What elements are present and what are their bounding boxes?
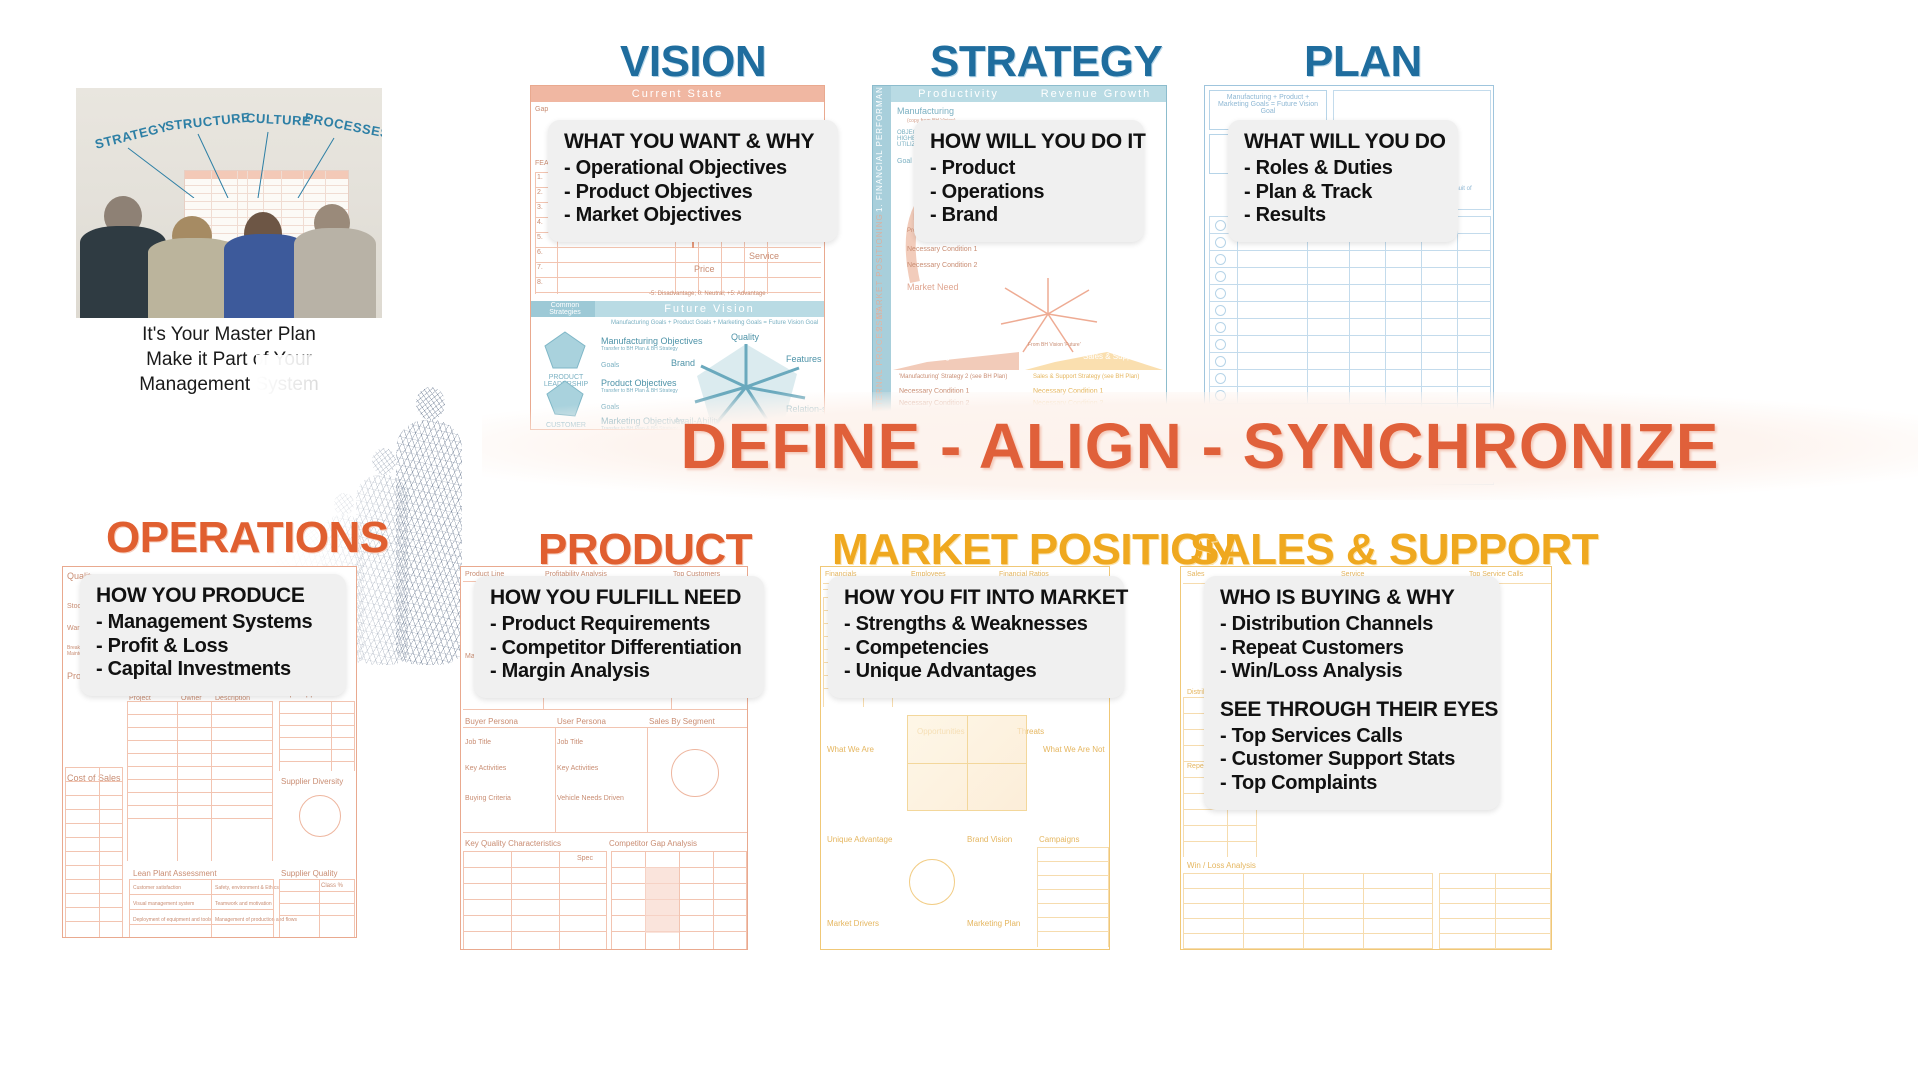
mp-label-unique-advantage: Unique Advantage (827, 835, 892, 844)
sales-support-card-item2-2: - Customer Support Stats (1220, 748, 1484, 772)
vision-row-7: 7. (537, 264, 543, 271)
strategy-band-revenue-growth: Revenue Growth (1026, 86, 1166, 102)
strategy-label-sales-support-band: Sales & Support (1083, 352, 1141, 361)
sales-support-card-item-2: - Repeat Customers (1220, 637, 1484, 661)
sales-support-card-item2-3: - Top Complaints (1220, 772, 1484, 796)
operations-callout-card: HOW YOU PRODUCE - Management Systems - P… (80, 574, 346, 696)
vision-label-goal-formula: Manufacturing Goals + Product Goals + Ma… (611, 320, 818, 326)
mp-label-brand-vision: Brand Vision (967, 835, 1012, 844)
strategy-label-nc-1: Necessary Condition 1 (907, 246, 977, 253)
vision-card-item-2: - Product Objectives (564, 181, 822, 205)
product-kqc-grid (463, 851, 607, 949)
panel-title-strategy: STRATEGY (930, 40, 1162, 84)
product-card-item-2: - Competitor Differentiation (490, 637, 748, 661)
sales-support-card-item2-1: - Top Services Calls (1220, 725, 1484, 749)
ops-label-lean-assessment: Lean Plant Assessment (133, 869, 217, 878)
market-position-card-item-2: - Competencies (844, 637, 1108, 661)
product-label-sales-by-segment: Sales By Segment (649, 717, 715, 726)
product-card-item-3: - Margin Analysis (490, 660, 748, 684)
ops-left-grid (65, 767, 123, 937)
vision-radar-brand: Brand (671, 358, 695, 368)
operations-card-heading: HOW YOU PRODUCE (96, 584, 330, 608)
plan-callout-card: WHAT WILL YOU DO - Roles & Duties - Plan… (1228, 120, 1458, 242)
sales-support-card-heading: WHO IS BUYING & WHY (1220, 586, 1484, 610)
vision-band-future-vision: Future Vision (595, 301, 824, 317)
vision-radar-quality: Quality (731, 332, 759, 342)
ops-projects-grid (127, 701, 273, 861)
operations-card-item-1: - Management Systems (96, 611, 330, 635)
ops-label-supplier-quality: Supplier Quality (281, 869, 337, 878)
strategy-label-ss-strategy: Sales & Support Strategy (see BH Plan) (1033, 374, 1139, 380)
product-label-competitor-gap: Competitor Gap Analysis (609, 839, 697, 848)
banner-text: DEFINE - ALIGN - SYNCHRONIZE (681, 409, 1720, 483)
banner-define-align-synchronize: DEFINE - ALIGN - SYNCHRONIZE (482, 392, 1918, 500)
vision-row-1: 1. (537, 174, 543, 181)
team-planning-photo: STRATEGY STRUCTURE CULTURE PROCESSES (76, 88, 382, 318)
plan-card-item-3: - Results (1244, 204, 1442, 228)
vision-label-gap: Gap (535, 106, 548, 113)
strategy-label-manufacturing: Manufacturing (897, 106, 954, 116)
mp-label-campaigns: Campaigns (1039, 835, 1079, 844)
ss-label-win-loss: Win / Loss Analysis (1187, 861, 1256, 870)
product-card-item-1: - Product Requirements (490, 613, 748, 637)
panel-title-operations: OPERATIONS (106, 516, 389, 560)
vision-legend: -5: Disadvantage; 0: Neutral; +5: Advant… (649, 291, 766, 297)
strategy-label-mfg-strategy-2: 'Manufacturing' Strategy 2 (see BH Plan) (899, 374, 1007, 380)
vision-row-4: 4. (537, 219, 543, 226)
vision-label-prod-objectives: Product Objectives (601, 378, 677, 388)
ops-label-supplier-diversity: Supplier Diversity (281, 777, 343, 786)
product-callout-card: HOW YOU FULFILL NEED - Product Requireme… (474, 576, 764, 698)
ss-winloss-grid (1183, 873, 1433, 949)
vision-card-item-3: - Market Objectives (564, 204, 822, 228)
plan-card-item-2: - Plan & Track (1244, 181, 1442, 205)
sales-support-card-item-1: - Distribution Channels (1220, 613, 1484, 637)
sales-support-card-heading-2: SEE THROUGH THEIR EYES (1220, 698, 1484, 722)
vision-label-service: Service (749, 251, 779, 261)
mp-label-what-we-are-not: What We Are Not (1043, 745, 1105, 754)
strategy-label-market-need: Market Need (907, 282, 959, 292)
product-label-key-quality: Key Quality Characteristics (465, 839, 561, 848)
product-card-heading: HOW YOU FULFILL NEED (490, 586, 748, 610)
sales-support-card-item-3: - Win/Loss Analysis (1220, 660, 1484, 684)
panel-title-vision: VISION (620, 40, 766, 84)
market-position-card-item-1: - Strengths & Weaknesses (844, 613, 1108, 637)
mp-label-market-drivers: Market Drivers (827, 919, 879, 928)
strategy-band-productivity: Productivity (891, 86, 1026, 102)
vision-row-3: 3. (537, 204, 543, 211)
mp-label-what-we-are: What We Are (827, 745, 874, 754)
vision-row-5: 5. (537, 234, 543, 241)
vision-transfer-note-1: Transfer to BH Plan & BH Strategy (601, 346, 678, 352)
photo-arc-labels: STRATEGY STRUCTURE CULTURE PROCESSES (76, 88, 382, 198)
strategy-label-nc-2: Necessary Condition 2 (907, 262, 977, 269)
strategy-label-mfg-band: Manufacturing (899, 352, 950, 361)
market-position-card-item-3: - Unique Advantages (844, 660, 1108, 684)
strategy-card-item-1: - Product (930, 157, 1128, 181)
vision-radar-features: Features (786, 354, 822, 364)
ops-supplier-quality-grid (279, 879, 355, 937)
vision-label-goals-1: Goals (601, 362, 619, 369)
plan-card-heading: WHAT WILL YOU DO (1244, 130, 1442, 154)
vision-label-common-strategies: Common Strategies (537, 302, 593, 316)
strategy-card-heading: HOW WILL YOU DO IT (930, 130, 1128, 154)
operations-card-item-2: - Profit & Loss (96, 635, 330, 659)
vision-row-6: 6. (537, 249, 543, 256)
product-label-user-persona: User Persona (557, 717, 606, 726)
caption-line-1: It's Your Master Plan (76, 322, 382, 347)
panel-title-plan: PLAN (1304, 40, 1422, 84)
vision-row-8: 8. (537, 279, 543, 286)
operations-card-item-3: - Capital Investments (96, 658, 330, 682)
ss-right-grid (1439, 873, 1551, 949)
strategy-rail-financial: 1. FINANCIAL PERFORMANCE (875, 92, 888, 212)
ss-label-sales: Sales (1187, 571, 1205, 578)
vision-callout-card: WHAT YOU WANT & WHY - Operational Object… (548, 120, 838, 242)
strategy-callout-card: HOW WILL YOU DO IT - Product - Operation… (914, 120, 1144, 242)
market-position-callout-card: HOW YOU FIT INTO MARKET - Strengths & We… (828, 576, 1124, 698)
product-gap-grid (611, 851, 747, 949)
vision-band-current-state: Current State (531, 86, 824, 102)
sales-support-callout-card: WHO IS BUYING & WHY - Distribution Chann… (1204, 576, 1500, 810)
market-position-card-heading: HOW YOU FIT INTO MARKET (844, 586, 1108, 610)
mp-right-grid (1037, 847, 1109, 947)
vision-card-heading: WHAT YOU WANT & WHY (564, 130, 822, 154)
vision-row-2: 2. (537, 189, 543, 196)
mp-label-marketing-plan: Marketing Plan (967, 919, 1020, 928)
plan-card-item-1: - Roles & Duties (1244, 157, 1442, 181)
ops-lean-grid (129, 879, 274, 937)
vision-card-item-1: - Operational Objectives (564, 157, 822, 181)
ops-suppliers-grid (279, 701, 355, 771)
strategy-card-item-2: - Operations (930, 181, 1128, 205)
strategy-card-item-3: - Brand (930, 204, 1128, 228)
product-label-buyer-persona: Buyer Persona (465, 717, 518, 726)
infographic-canvas: STRATEGY STRUCTURE CULTURE PROCESSES It'… (0, 0, 1920, 1088)
vision-label-price: Price (694, 264, 715, 274)
